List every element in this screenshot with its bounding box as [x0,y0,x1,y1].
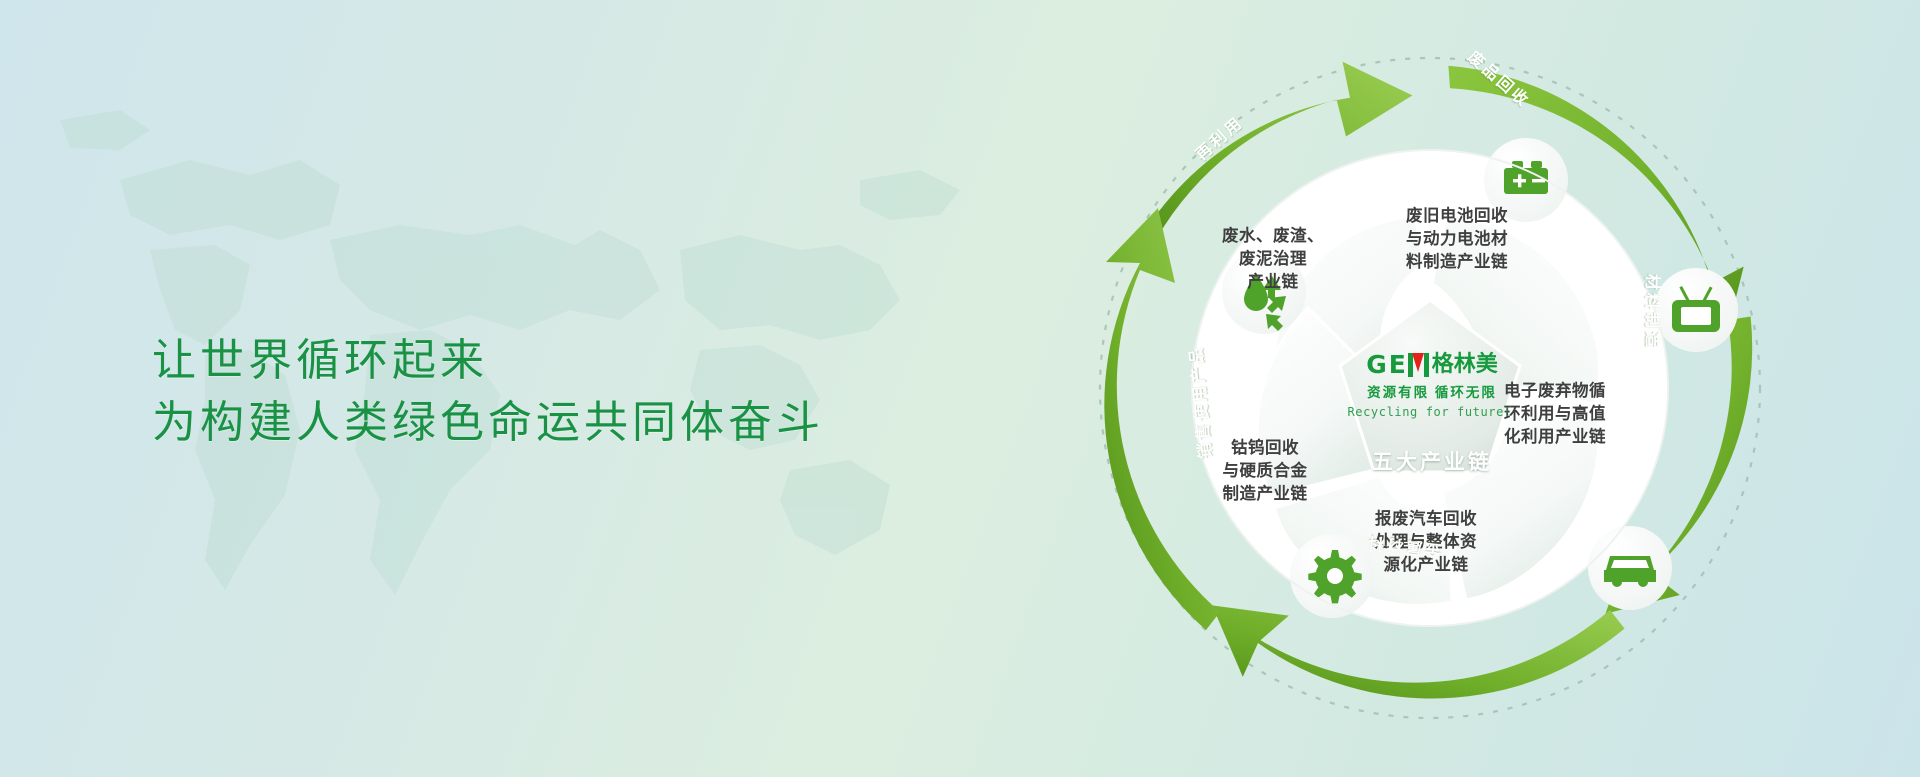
arc-label-material-manufacturing: 材料制造 [1642,274,1666,350]
icon-badge-car[interactable] [1588,526,1672,610]
slogan-line-2: 为构建人类绿色命运共同体奋斗 [152,392,824,454]
segment-label-ewaste: 电子废弃物循 环利用与高值 化利用产业链 [1480,380,1630,448]
circular-economy-infographic: 废水、废渣、 废泥治理 产业链 废旧电池回收 与动力电池材 料制造产业链 电子废… [1020,0,1920,777]
hero-slogan: 让世界循环起来 为构建人类绿色命运共同体奋斗 [152,330,824,455]
slogan-line-1: 让世界循环起来 [152,330,824,392]
icon-badge-television[interactable] [1654,268,1738,352]
infographic-graphics [1020,0,1920,777]
segment-label-wastewater: 废水、废渣、 废泥治理 产业链 [1198,225,1348,293]
segment-label-battery: 废旧电池回收 与动力电池材 料制造产业链 [1382,205,1532,273]
